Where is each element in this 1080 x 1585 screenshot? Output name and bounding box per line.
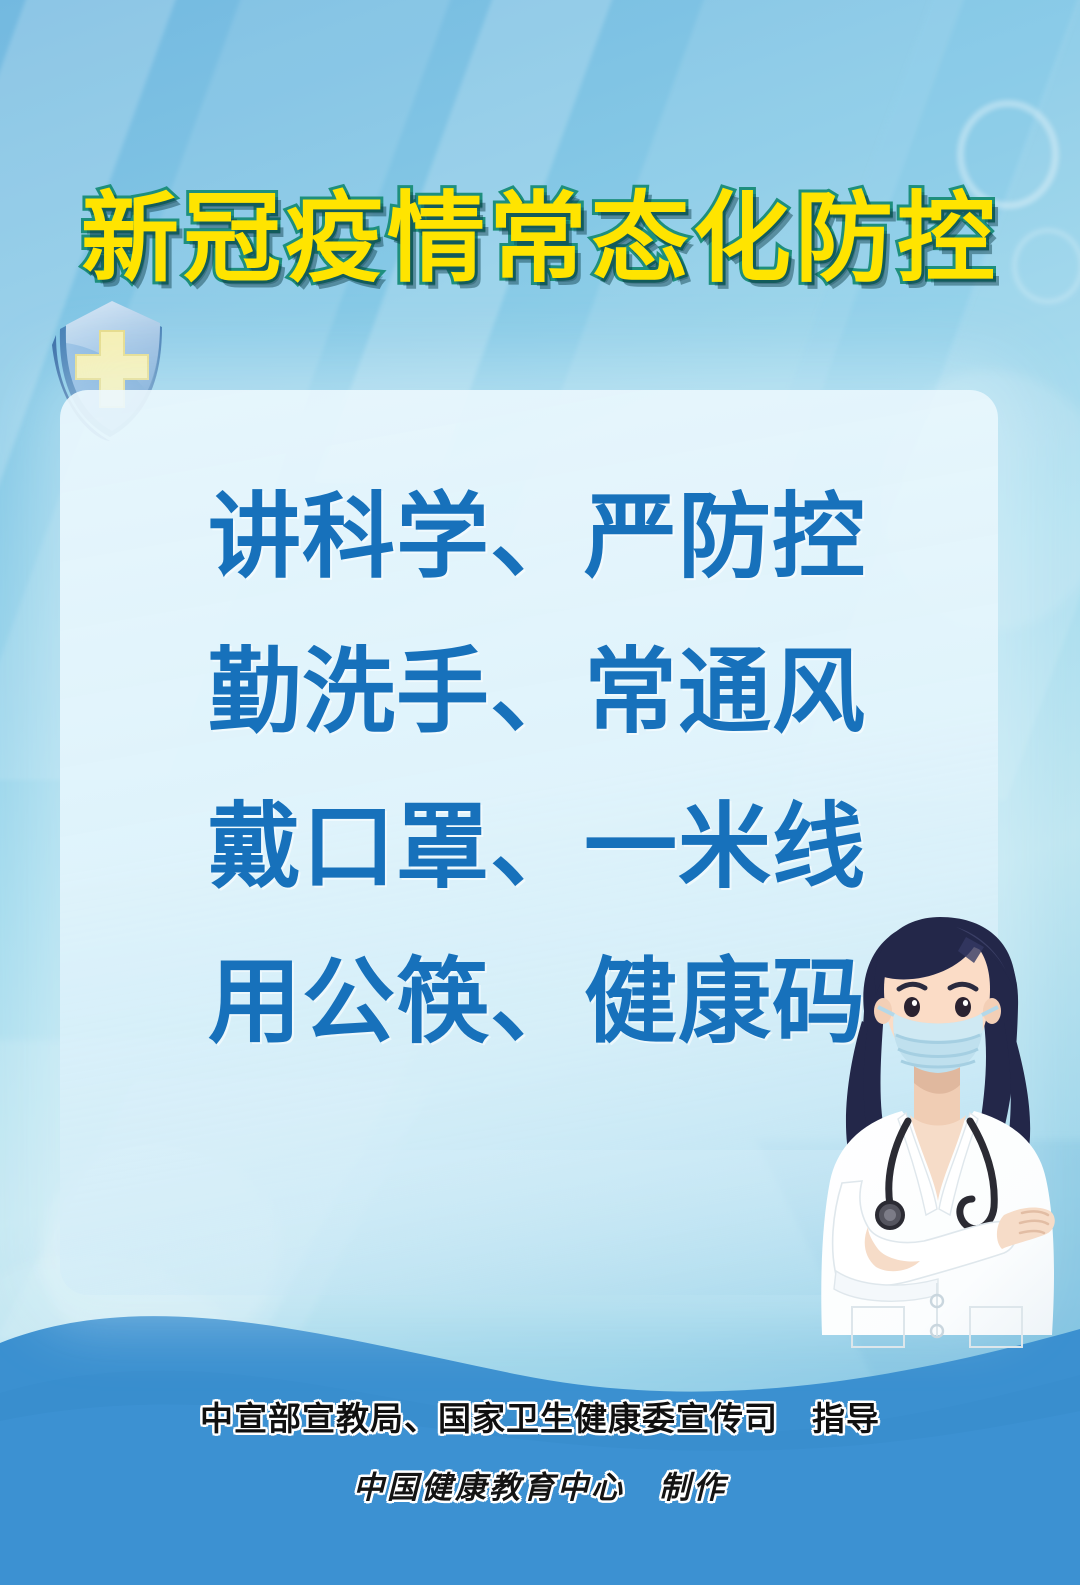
slogan-line: 戴口罩、 一米线 bbox=[60, 770, 940, 925]
page-title: 新冠疫情常态化防控 bbox=[0, 188, 1080, 291]
female-doctor-illustration bbox=[806, 915, 1080, 1335]
footer-produced-by: 中国健康教育中心 制作 bbox=[0, 1462, 1080, 1507]
slogan-left: 用公筷、 bbox=[208, 925, 584, 1080]
footer: 中宣部宣教局、国家卫生健康委宣传司 指导 中国健康教育中心 制作 bbox=[0, 1392, 1080, 1507]
footer-directed-by: 中宣部宣教局、国家卫生健康委宣传司 指导 bbox=[0, 1392, 1080, 1440]
slogan-line: 勤洗手、 常通风 bbox=[60, 615, 940, 770]
slogan-right: 一米线 bbox=[584, 770, 866, 925]
slogan-left: 勤洗手、 bbox=[208, 615, 584, 770]
slogan-right: 严防控 bbox=[584, 460, 866, 615]
poster-canvas: 新冠疫情常态化防控 新冠疫情常态化防控 bbox=[0, 0, 1080, 1585]
slogan-left: 讲科学、 bbox=[208, 460, 584, 615]
slogan-left: 戴口罩、 bbox=[208, 770, 584, 925]
slogan-line: 讲科学、 严防控 bbox=[60, 460, 940, 615]
slogan-right: 常通风 bbox=[584, 615, 866, 770]
